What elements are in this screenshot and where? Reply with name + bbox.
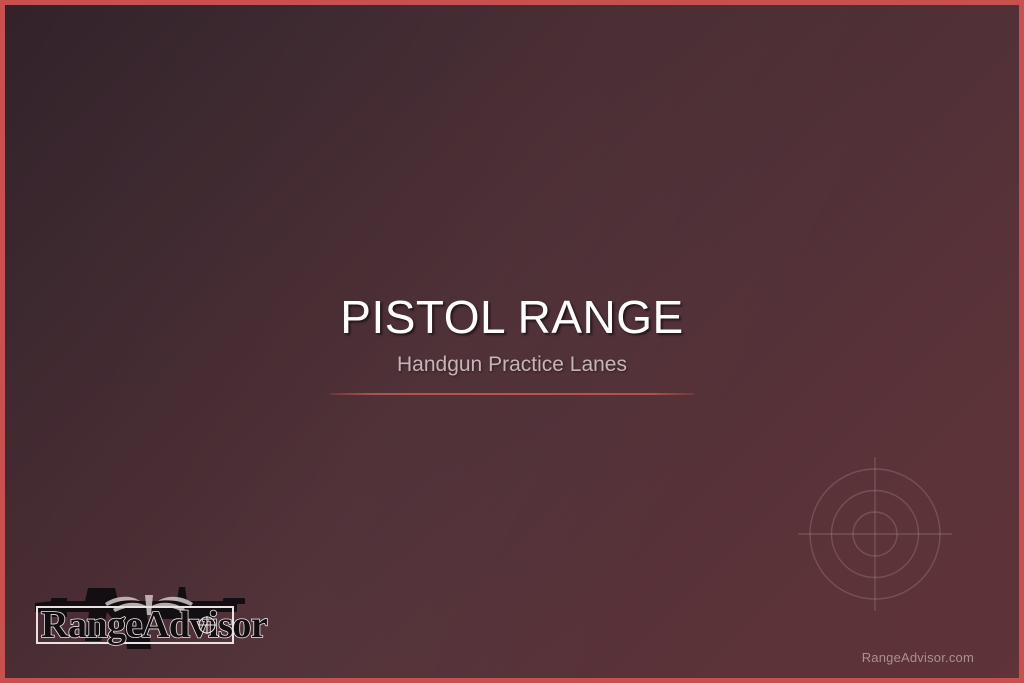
target-crosshair-icon [795, 454, 955, 614]
page-title: PISTOL RANGE [5, 291, 1019, 343]
title-block: PISTOL RANGE Handgun Practice Lanes [5, 291, 1019, 395]
rangeadvisor-logo: RangeAdvisor [27, 565, 272, 660]
logo-wordmark: RangeAdvisor [41, 604, 268, 646]
site-watermark: RangeAdvisor.com [862, 650, 974, 665]
slide-canvas: PISTOL RANGE Handgun Practice Lanes [0, 0, 1024, 683]
page-subtitle: Handgun Practice Lanes [5, 351, 1019, 379]
title-divider [330, 393, 694, 395]
